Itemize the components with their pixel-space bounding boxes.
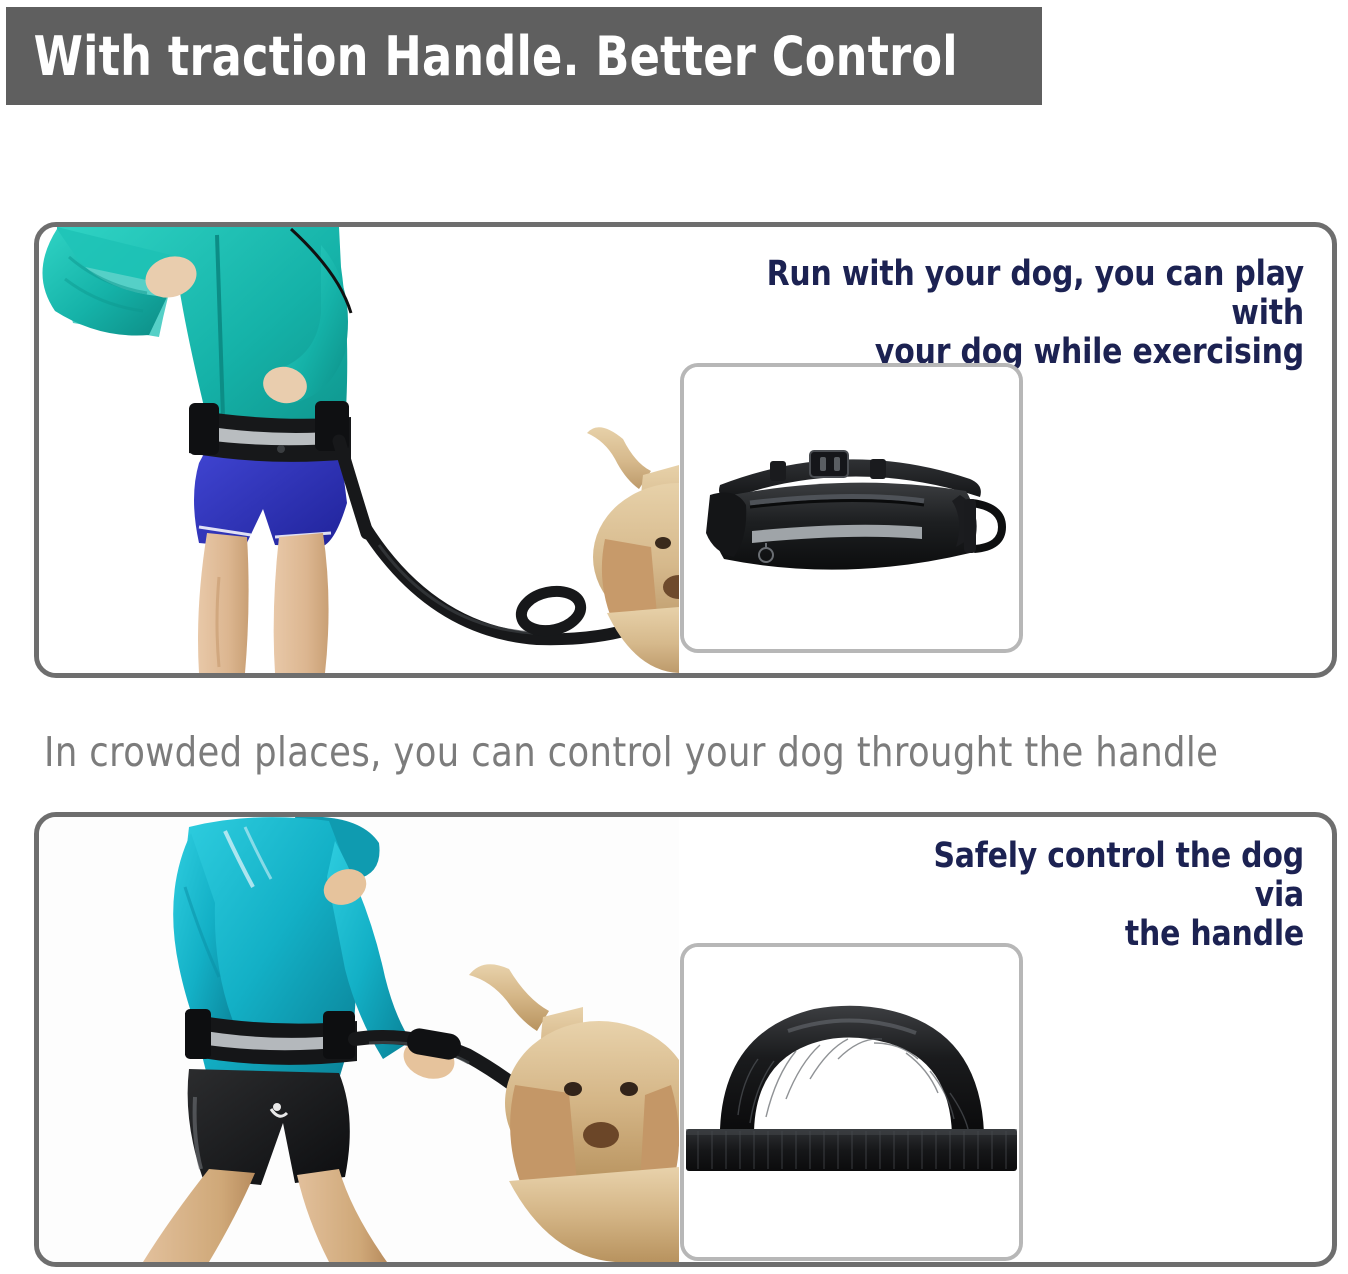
runner-with-dog-illustration [39,227,679,673]
panel-1-photo [39,227,679,673]
panel-1-headline-line-1: Run with your dog, you can play with [767,254,1304,333]
mid-caption: In crowded places, you can control your … [44,728,1282,776]
feature-panel-1: Run with your dog, you can play with you… [34,222,1337,678]
header-banner: With traction Handle. Better Control [6,7,1042,105]
running-waist-belt-product-image [684,367,1019,649]
panel-1-right-column: Run with your dog, you can play with you… [672,227,1332,673]
panel-1-headline: Run with your dog, you can play with you… [734,255,1304,373]
panel-2-headline-line-2: the handle [1125,914,1304,954]
panel-2-right-column: Safely control the dog via the handle [672,817,1332,1262]
panel-2-product-inset [680,943,1023,1261]
feature-panel-2: Safely control the dog via the handle [34,812,1337,1267]
panel-2-headline-line-1: Safely control the dog via [933,836,1304,915]
panel-2-headline: Safely control the dog via the handle [896,837,1305,955]
panel-2-photo [39,817,679,1262]
panel-1-product-inset [680,363,1023,653]
banner-title: With traction Handle. Better Control [6,25,958,88]
traction-handle-product-image [684,947,1019,1257]
runner-gripping-handle-illustration [39,817,679,1262]
